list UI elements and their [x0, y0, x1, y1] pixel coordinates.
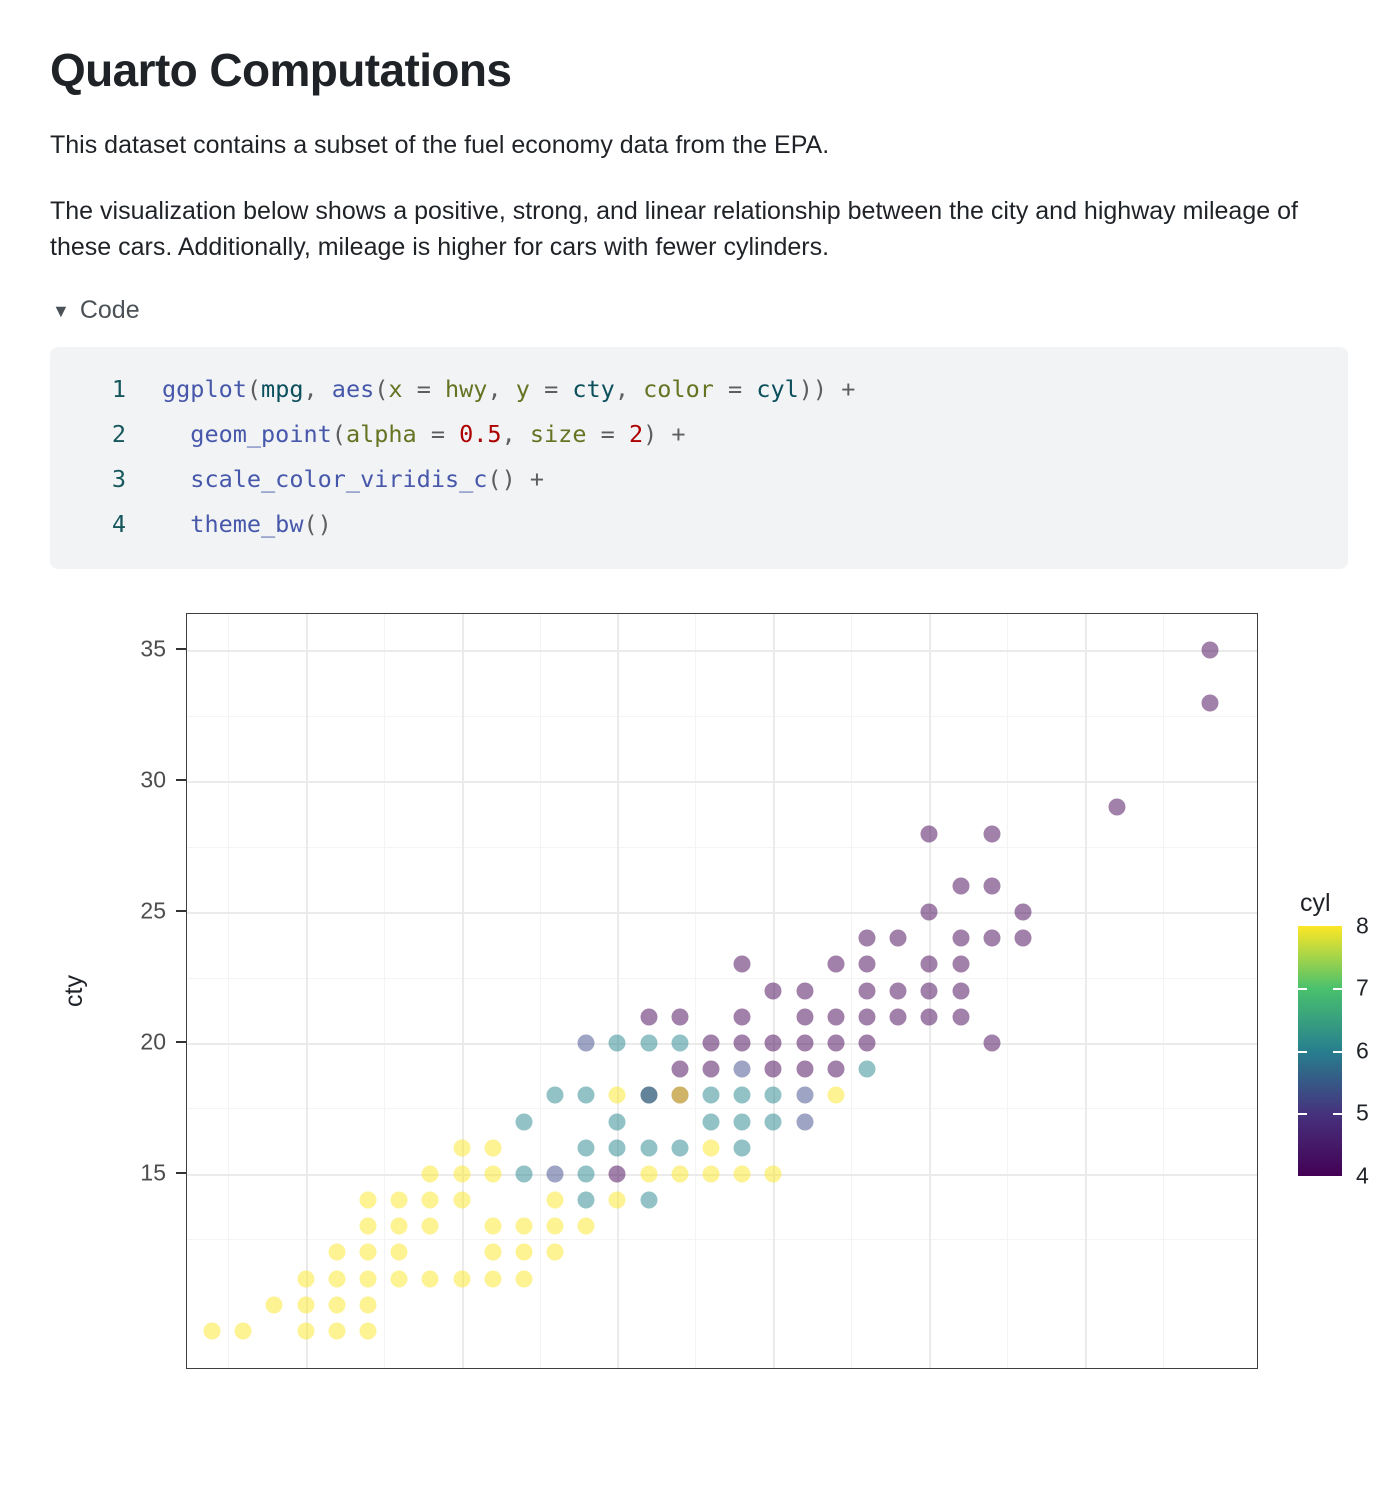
data-point — [1015, 904, 1032, 921]
data-point — [547, 1218, 564, 1235]
data-point — [703, 1165, 720, 1182]
code-token: , — [487, 375, 515, 403]
chevron-down-icon: ▼ — [52, 302, 70, 320]
legend-tick-label: 8 — [1356, 912, 1369, 939]
data-point — [515, 1218, 532, 1235]
code-token: + — [657, 420, 685, 448]
data-point — [671, 1061, 688, 1078]
data-point — [640, 1139, 657, 1156]
code-block[interactable]: 1ggplot(mpg, aes(x = hwy, y = cty, color… — [50, 347, 1348, 569]
data-point — [827, 956, 844, 973]
data-point — [453, 1165, 470, 1182]
gridline-min — [384, 614, 385, 1368]
legend-title: cyl — [1300, 889, 1400, 918]
legend-tick-mark — [1333, 1051, 1342, 1053]
y-tick-label: 30 — [96, 767, 166, 794]
code-token: = — [586, 420, 628, 448]
code-token: mpg — [261, 375, 303, 403]
gridline-min — [187, 1108, 1257, 1109]
gridline-maj — [462, 614, 464, 1368]
data-point — [578, 1035, 595, 1052]
data-point — [827, 1087, 844, 1104]
data-point — [921, 904, 938, 921]
code-token: = — [417, 420, 459, 448]
data-point — [1202, 642, 1219, 659]
data-point — [703, 1113, 720, 1130]
data-point — [640, 1192, 657, 1209]
legend-tick-mark — [1333, 988, 1342, 990]
data-point — [484, 1270, 501, 1287]
data-point — [484, 1165, 501, 1182]
data-point — [921, 956, 938, 973]
data-point — [1015, 930, 1032, 947]
data-point — [859, 956, 876, 973]
data-point — [921, 982, 938, 999]
data-point — [796, 982, 813, 999]
code-token: aes — [332, 375, 374, 403]
data-point — [734, 956, 751, 973]
color-legend: cyl 45678 — [1298, 889, 1400, 1176]
data-point — [515, 1165, 532, 1182]
data-point — [391, 1244, 408, 1261]
data-point — [297, 1296, 314, 1313]
data-point — [859, 982, 876, 999]
gridline-maj — [306, 614, 308, 1368]
data-point — [952, 930, 969, 947]
code-source: 1ggplot(mpg, aes(x = hwy, y = cty, color… — [50, 367, 1348, 547]
data-point — [422, 1270, 439, 1287]
data-point — [359, 1192, 376, 1209]
code-token: scale_color_viridis_c — [190, 465, 487, 493]
code-line-number: 2 — [50, 412, 126, 457]
code-fold-toggle[interactable]: ▼ Code — [52, 296, 140, 325]
code-fold-label: Code — [80, 296, 140, 325]
code-token: x — [388, 375, 402, 403]
data-point — [359, 1218, 376, 1235]
code-token — [162, 465, 190, 493]
gridline-min — [228, 614, 229, 1368]
legend-colorbar-wrap: 45678 — [1298, 926, 1400, 1176]
code-token: geom_point — [190, 420, 331, 448]
data-point — [983, 825, 1000, 842]
data-point — [547, 1244, 564, 1261]
data-point — [235, 1322, 252, 1339]
data-point — [578, 1218, 595, 1235]
y-axis-title: cty — [60, 975, 89, 1007]
legend-tick-mark — [1298, 1051, 1307, 1053]
code-token: () — [303, 510, 331, 538]
code-line-number: 3 — [50, 457, 126, 502]
gridline-min — [540, 614, 541, 1368]
data-point — [484, 1244, 501, 1261]
code-token: () — [487, 465, 515, 493]
data-point — [703, 1035, 720, 1052]
data-point — [484, 1218, 501, 1235]
y-tick-label: 35 — [96, 636, 166, 663]
data-point — [983, 877, 1000, 894]
data-point — [796, 1113, 813, 1130]
data-point — [827, 1061, 844, 1078]
gridline-min — [187, 716, 1257, 717]
code-token — [162, 510, 190, 538]
data-point — [422, 1218, 439, 1235]
data-point — [203, 1322, 220, 1339]
data-point — [640, 1008, 657, 1025]
code-line-number: 4 — [50, 502, 126, 547]
data-point — [671, 1165, 688, 1182]
y-tick-mark — [176, 1172, 186, 1174]
data-point — [765, 1087, 782, 1104]
gridline-maj — [187, 1043, 1257, 1045]
gridline-maj — [187, 650, 1257, 652]
code-token: 0.5 — [459, 420, 501, 448]
data-point — [547, 1165, 564, 1182]
description-paragraph: The visualization below shows a positive… — [50, 193, 1340, 266]
gridline-min — [187, 847, 1257, 848]
data-point — [703, 1061, 720, 1078]
data-point — [515, 1270, 532, 1287]
data-point — [359, 1296, 376, 1313]
legend-tick-label: 7 — [1356, 975, 1369, 1002]
data-point — [796, 1061, 813, 1078]
data-point — [859, 930, 876, 947]
code-token: size — [530, 420, 587, 448]
gridline-min — [187, 978, 1257, 979]
scatter-plot-figure: 1520253035 cty cyl 45678 — [50, 611, 1350, 1371]
data-point — [640, 1165, 657, 1182]
data-point — [796, 1008, 813, 1025]
data-point — [671, 1087, 688, 1104]
y-tick-label: 15 — [96, 1159, 166, 1186]
data-point — [734, 1139, 751, 1156]
y-tick-mark — [176, 910, 186, 912]
data-point — [328, 1322, 345, 1339]
data-point — [734, 1165, 751, 1182]
data-point — [609, 1192, 626, 1209]
plot-panel — [186, 613, 1258, 1369]
data-point — [609, 1035, 626, 1052]
data-point — [765, 1165, 782, 1182]
data-point — [609, 1087, 626, 1104]
data-point — [765, 1061, 782, 1078]
gridline-maj — [187, 1174, 1257, 1176]
data-point — [703, 1139, 720, 1156]
data-point — [890, 1008, 907, 1025]
y-tick-mark — [176, 779, 186, 781]
gridline-min — [187, 1239, 1257, 1240]
data-point — [391, 1270, 408, 1287]
data-point — [859, 1008, 876, 1025]
code-token: + — [827, 375, 869, 403]
data-point — [578, 1165, 595, 1182]
code-token: ggplot — [162, 375, 247, 403]
gridline-maj — [1085, 614, 1087, 1368]
data-point — [671, 1035, 688, 1052]
data-point — [422, 1165, 439, 1182]
code-token: , — [304, 375, 332, 403]
data-point — [359, 1322, 376, 1339]
document-page: Quarto Computations This dataset contain… — [0, 0, 1400, 1371]
code-token: cyl — [756, 375, 798, 403]
data-point — [827, 1035, 844, 1052]
code-token: alpha — [346, 420, 417, 448]
data-point — [703, 1087, 720, 1104]
data-point — [297, 1322, 314, 1339]
data-point — [391, 1192, 408, 1209]
code-token: ( — [247, 375, 261, 403]
data-point — [952, 982, 969, 999]
data-point — [1202, 694, 1219, 711]
legend-tick-mark — [1333, 1113, 1342, 1115]
data-point — [578, 1087, 595, 1104]
y-tick-mark — [176, 1041, 186, 1043]
gridline-maj — [617, 614, 619, 1368]
legend-tick-label: 6 — [1356, 1037, 1369, 1064]
data-point — [827, 1008, 844, 1025]
data-point — [547, 1087, 564, 1104]
data-point — [952, 1008, 969, 1025]
y-tick-mark — [176, 648, 186, 650]
data-point — [609, 1165, 626, 1182]
code-token: = — [530, 375, 572, 403]
gridline-maj — [187, 912, 1257, 914]
data-point — [453, 1192, 470, 1209]
data-point — [453, 1270, 470, 1287]
data-point — [734, 1061, 751, 1078]
code-token: ( — [374, 375, 388, 403]
data-point — [515, 1244, 532, 1261]
data-point — [359, 1244, 376, 1261]
code-token — [162, 420, 190, 448]
data-point — [734, 1087, 751, 1104]
data-point — [266, 1296, 283, 1313]
data-point — [734, 1008, 751, 1025]
code-token: , — [502, 420, 530, 448]
intro-paragraph: This dataset contains a subset of the fu… — [50, 127, 1340, 163]
code-line-number: 1 — [50, 367, 126, 412]
code-token: hwy — [445, 375, 487, 403]
data-point — [640, 1087, 657, 1104]
code-token: )) — [799, 375, 827, 403]
data-point — [422, 1192, 439, 1209]
data-point — [859, 1061, 876, 1078]
legend-tick-label: 5 — [1356, 1100, 1369, 1127]
data-point — [609, 1113, 626, 1130]
gridline-min — [851, 614, 852, 1368]
data-point — [734, 1113, 751, 1130]
code-token: = — [714, 375, 756, 403]
y-tick-label: 25 — [96, 898, 166, 925]
data-point — [952, 956, 969, 973]
code-token: cty — [572, 375, 614, 403]
data-point — [297, 1270, 314, 1287]
code-token: ) — [643, 420, 657, 448]
legend-tick-label: 4 — [1356, 1162, 1369, 1189]
code-token: , — [615, 375, 643, 403]
data-point — [359, 1270, 376, 1287]
code-token: = — [403, 375, 445, 403]
data-point — [952, 877, 969, 894]
data-point — [796, 1035, 813, 1052]
code-token: 2 — [629, 420, 643, 448]
data-point — [890, 982, 907, 999]
data-point — [578, 1139, 595, 1156]
code-token: theme_bw — [190, 510, 303, 538]
data-point — [765, 1035, 782, 1052]
code-token: + — [516, 465, 544, 493]
data-point — [671, 1008, 688, 1025]
data-point — [609, 1139, 626, 1156]
data-point — [671, 1139, 688, 1156]
data-point — [921, 1008, 938, 1025]
data-point — [328, 1270, 345, 1287]
page-title: Quarto Computations — [50, 44, 1350, 97]
data-point — [983, 930, 1000, 947]
data-point — [983, 1035, 1000, 1052]
data-point — [765, 982, 782, 999]
data-point — [391, 1218, 408, 1235]
data-point — [453, 1139, 470, 1156]
data-point — [890, 930, 907, 947]
legend-tick-mark — [1298, 988, 1307, 990]
data-point — [515, 1113, 532, 1130]
data-point — [640, 1035, 657, 1052]
gridline-min — [1007, 614, 1008, 1368]
data-point — [859, 1035, 876, 1052]
data-point — [547, 1192, 564, 1209]
code-token: ( — [332, 420, 346, 448]
legend-tick-mark — [1298, 1113, 1307, 1115]
data-point — [328, 1244, 345, 1261]
data-point — [765, 1113, 782, 1130]
data-point — [484, 1139, 501, 1156]
data-point — [1108, 799, 1125, 816]
data-point — [796, 1087, 813, 1104]
y-tick-label: 20 — [96, 1029, 166, 1056]
data-point — [921, 825, 938, 842]
data-point — [578, 1192, 595, 1209]
code-token: color — [643, 375, 714, 403]
gridline-maj — [187, 781, 1257, 783]
data-point — [734, 1035, 751, 1052]
data-point — [328, 1296, 345, 1313]
code-token: y — [516, 375, 530, 403]
gridline-min — [1163, 614, 1164, 1368]
gridline-min — [695, 614, 696, 1368]
